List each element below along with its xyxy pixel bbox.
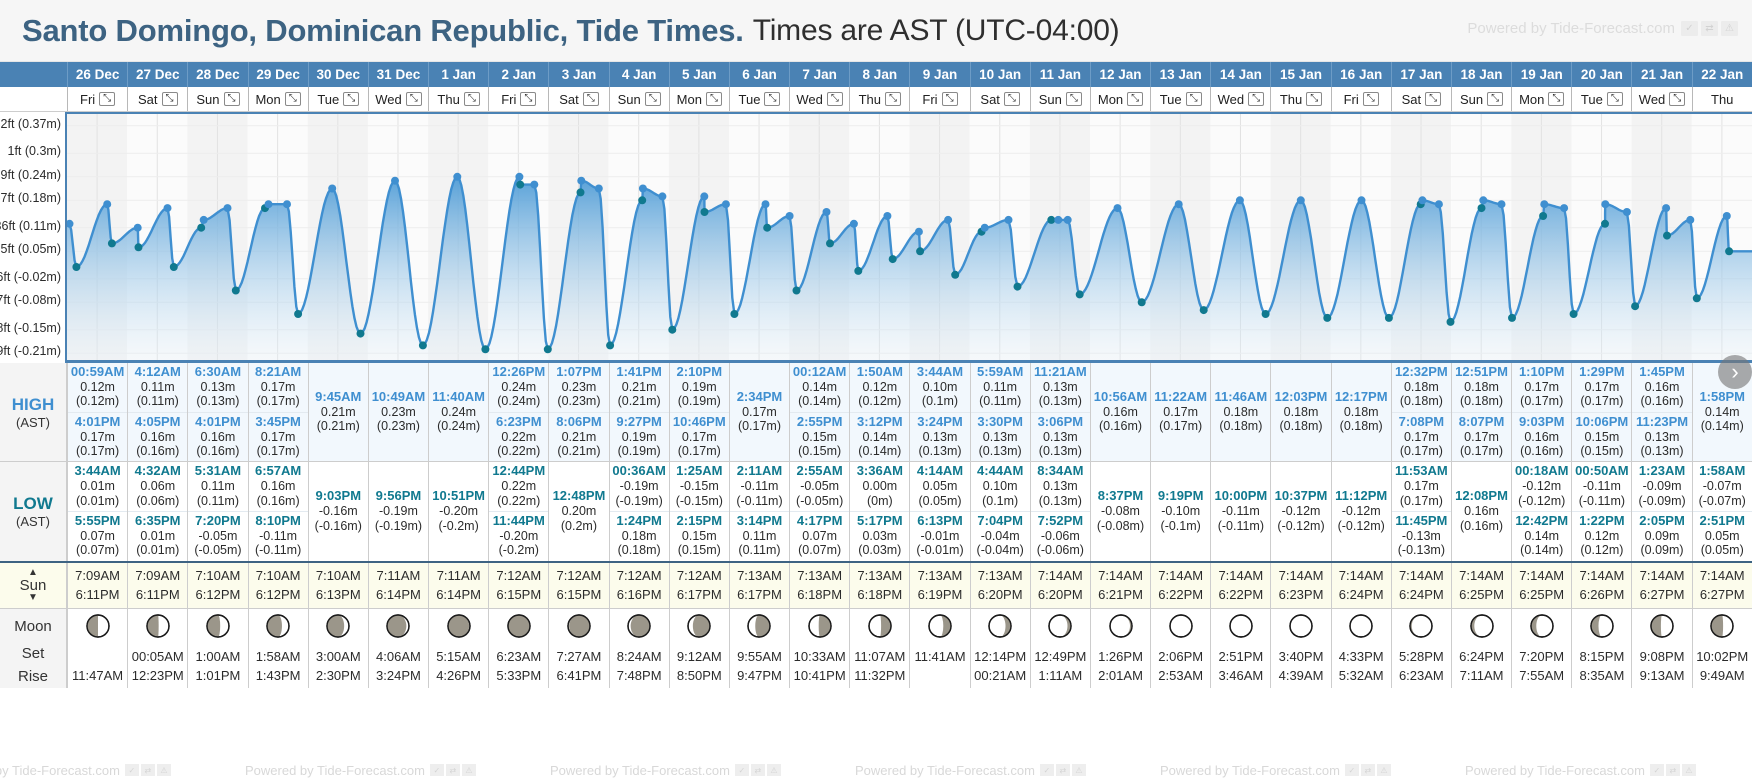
low-tide-point[interactable] xyxy=(516,181,524,189)
day-header-cell[interactable]: Tue⤡ xyxy=(1571,87,1631,111)
expand-day-icon[interactable]: ⤡ xyxy=(706,92,722,106)
low-tide-entry[interactable]: 1:24PM0.18m(0.18m) xyxy=(610,512,669,561)
moon-rise-time: 1:11AM xyxy=(1038,666,1082,685)
expand-day-icon[interactable]: ⤡ xyxy=(1004,92,1020,106)
day-header-cell[interactable]: Sun⤡ xyxy=(609,87,669,111)
low-tide-point[interactable] xyxy=(1076,290,1084,298)
high-tide-point[interactable] xyxy=(515,173,523,181)
expand-day-icon[interactable]: ⤡ xyxy=(942,92,958,106)
high-tide-point[interactable] xyxy=(265,200,273,208)
next-page-arrow-icon[interactable]: › xyxy=(1718,355,1752,389)
date-header-cell[interactable]: 30 Dec xyxy=(308,62,368,87)
high-tide-point[interactable] xyxy=(700,192,708,200)
low-tide-point[interactable] xyxy=(170,263,178,271)
high-tide-point[interactable] xyxy=(134,224,142,232)
high-tide-entry[interactable]: 12:17PM0.18m(0.18m) xyxy=(1332,388,1391,437)
tide-height: 0.11m xyxy=(201,479,235,493)
high-tide-entry[interactable]: 4:05PM0.16m(0.16m) xyxy=(128,413,187,462)
date-header-cell[interactable]: 28 Dec xyxy=(187,62,247,87)
low-tide-point[interactable] xyxy=(1693,294,1701,302)
high-tide-entry[interactable]: 4:01PM0.16m(0.16m) xyxy=(188,413,247,462)
low-tide-point[interactable] xyxy=(72,263,80,271)
sunrise-time: 7:14AM xyxy=(1700,567,1745,586)
day-header-cell[interactable]: Tue⤡ xyxy=(1150,87,1210,111)
high-tide-entry[interactable]: 10:56AM0.16m(0.16m) xyxy=(1091,388,1150,437)
low-tide-point[interactable] xyxy=(1601,220,1609,228)
day-header-cell[interactable]: Sun⤡ xyxy=(1030,87,1090,111)
high-tide-point[interactable] xyxy=(1686,216,1694,224)
low-tide-entry[interactable]: 2:05PM0.09m(0.09m) xyxy=(1632,512,1691,561)
date-header-cell[interactable]: 16 Jan xyxy=(1331,62,1391,87)
date-header-cell[interactable]: 26 Dec xyxy=(67,62,127,87)
low-tide-entry[interactable]: 10:00PM-0.11m(-0.11m) xyxy=(1211,487,1270,536)
low-tide-point[interactable] xyxy=(1478,204,1486,212)
low-tide-point[interactable] xyxy=(1014,283,1022,291)
low-tide-entry[interactable]: 11:45PM-0.13m(-0.13m) xyxy=(1392,512,1451,561)
low-tide-entry[interactable]: 2:51PM0.05m(0.05m) xyxy=(1693,512,1752,561)
expand-day-icon[interactable]: ⤡ xyxy=(583,92,599,106)
low-tide-point[interactable] xyxy=(357,330,365,338)
low-tide-entry[interactable]: 7:20PM-0.05m(-0.05m) xyxy=(188,512,247,561)
low-tide-point[interactable] xyxy=(1539,212,1547,220)
high-tide-point[interactable] xyxy=(1297,196,1305,204)
low-tide-point[interactable] xyxy=(135,243,143,251)
expand-day-icon[interactable]: ⤡ xyxy=(99,92,115,106)
sunrise-time: 7:14AM xyxy=(1158,567,1203,586)
expand-day-icon[interactable]: ⤡ xyxy=(1363,92,1379,106)
date-header-cell[interactable]: 19 Jan xyxy=(1511,62,1571,87)
high-tide-entry[interactable]: 10:46PM0.17m(0.17m) xyxy=(670,413,729,462)
high-tide-entry[interactable]: 11:21AM0.13m(0.13m) xyxy=(1031,363,1090,413)
tide-height: 0.00m xyxy=(862,479,897,493)
expand-day-icon[interactable]: ⤡ xyxy=(764,92,780,106)
low-tide-point[interactable] xyxy=(544,345,552,353)
low-tide-entry[interactable]: 5:31AM0.11m(0.11m) xyxy=(188,462,247,512)
day-header-cell[interactable]: Mon⤡ xyxy=(248,87,308,111)
high-tide-entry[interactable]: 1:45PM0.16m(0.16m) xyxy=(1632,363,1691,413)
low-tide-entry[interactable]: 8:37PM-0.08m(-0.08m) xyxy=(1091,487,1150,536)
low-tide-point[interactable] xyxy=(1570,310,1578,318)
date-header-cell[interactable]: 20 Jan xyxy=(1571,62,1631,87)
date-header-cell[interactable]: 22 Jan xyxy=(1692,62,1752,87)
low-tide-point[interactable] xyxy=(826,239,834,247)
low-tide-entry[interactable]: 12:08PM0.16m(0.16m) xyxy=(1452,487,1511,536)
high-tide-entry[interactable]: 5:59AM0.11m(0.11m) xyxy=(971,363,1030,413)
date-header-cell[interactable]: 14 Jan xyxy=(1210,62,1270,87)
day-header-cell[interactable]: Tue⤡ xyxy=(729,87,789,111)
date-header-cell[interactable]: 11 Jan xyxy=(1030,62,1090,87)
high-tide-entry[interactable]: 12:32PM0.18m(0.18m) xyxy=(1392,363,1451,413)
expand-day-icon[interactable]: ⤡ xyxy=(1425,92,1441,106)
high-tide-entry[interactable]: 2:34PM0.17m(0.17m) xyxy=(730,388,789,437)
date-header-cell[interactable]: 3 Jan xyxy=(548,62,608,87)
high-tide-entry[interactable]: 9:45AM0.21m(0.21m) xyxy=(309,388,368,437)
low-tide-entry[interactable]: 7:52PM-0.06m(-0.06m) xyxy=(1031,512,1090,561)
high-tide-point[interactable] xyxy=(850,220,858,228)
low-tide-entry[interactable]: 12:42PM0.14m(0.14m) xyxy=(1512,512,1571,561)
high-tide-entry[interactable]: 1:50AM0.12m(0.12m) xyxy=(850,363,909,413)
high-tide-entry[interactable]: 3:44AM0.10m(0.1m) xyxy=(910,363,969,413)
high-tide-entry[interactable]: 11:40AM0.24m(0.24m) xyxy=(429,388,488,437)
high-tide-point[interactable] xyxy=(1418,196,1426,204)
low-tide-entry[interactable]: 6:57AM0.16m(0.16m) xyxy=(249,462,308,512)
low-tide-entry[interactable]: 9:56PM-0.19m(-0.19m) xyxy=(369,487,428,536)
low-tide-point[interactable] xyxy=(1262,310,1270,318)
expand-day-icon[interactable]: ⤡ xyxy=(343,92,359,106)
low-tide-point[interactable] xyxy=(1138,298,1146,306)
high-tide-point[interactable] xyxy=(915,228,923,236)
low-tide-entry[interactable]: 11:53AM0.17m(0.17m) xyxy=(1392,462,1451,512)
low-tide-point[interactable] xyxy=(1200,306,1208,314)
high-tide-point[interactable] xyxy=(1540,200,1548,208)
day-header-cell[interactable]: Fri⤡ xyxy=(1331,87,1391,111)
expand-day-icon[interactable]: ⤡ xyxy=(1066,92,1082,106)
high-tide-point[interactable] xyxy=(639,185,647,193)
low-tide-entry[interactable]: 7:04PM-0.04m(-0.04m) xyxy=(971,512,1030,561)
tide-time: 6:23PM xyxy=(496,415,542,430)
high-tide-entry[interactable]: 00:59AM0.12m(0.12m) xyxy=(68,363,127,413)
tide-time: 2:11AM xyxy=(737,464,783,479)
date-header-cell[interactable]: 15 Jan xyxy=(1270,62,1330,87)
high-tide-entry[interactable]: 12:26PM0.24m(0.24m) xyxy=(489,363,548,413)
high-tide-entry[interactable]: 11:22AM0.17m(0.17m) xyxy=(1151,388,1210,437)
low-tide-point[interactable] xyxy=(854,267,862,275)
low-tide-point[interactable] xyxy=(577,188,585,196)
high-tide-entry[interactable]: 1:07PM0.23m(0.23m) xyxy=(549,363,608,413)
expand-day-icon[interactable]: ⤡ xyxy=(1127,92,1143,106)
high-tide-point[interactable] xyxy=(283,200,291,208)
date-header-cell[interactable]: 27 Dec xyxy=(127,62,187,87)
expand-day-icon[interactable]: ⤡ xyxy=(285,92,301,106)
high-tide-entry[interactable]: 3:24PM0.13m(0.13m) xyxy=(910,413,969,462)
day-header-cell[interactable]: Mon⤡ xyxy=(1511,87,1571,111)
expand-day-icon[interactable]: ⤡ xyxy=(645,92,661,106)
date-header-cell[interactable]: 18 Jan xyxy=(1451,62,1511,87)
tide-height-alt: (0.12m) xyxy=(76,394,119,408)
low-tide-entry[interactable]: 1:25AM-0.15m(-0.15m) xyxy=(670,462,729,512)
high-tide-point[interactable] xyxy=(391,177,399,185)
low-tide-point[interactable] xyxy=(1323,314,1331,322)
low-tide-entry[interactable]: 1:23AM-0.09m(-0.09m) xyxy=(1632,462,1691,512)
high-tide-entry[interactable]: 1:10PM0.17m(0.17m) xyxy=(1512,363,1571,413)
day-header-cell[interactable]: Thu⤡ xyxy=(428,87,488,111)
high-tide-entry[interactable]: 9:03PM0.16m(0.16m) xyxy=(1512,413,1571,462)
high-tide-point[interactable] xyxy=(1723,212,1731,220)
day-header-cell[interactable]: Fri⤡ xyxy=(488,87,548,111)
low-tide-point[interactable] xyxy=(232,287,240,295)
high-tide-entry[interactable]: 1:58PM0.14m(0.14m) xyxy=(1693,388,1752,437)
low-tide-point[interactable] xyxy=(1047,216,1055,224)
day-header-cell[interactable]: Fri⤡ xyxy=(67,87,127,111)
day-name-label: Thu xyxy=(859,92,881,107)
low-tide-entry[interactable]: 2:15PM0.15m(0.15m) xyxy=(670,512,729,561)
high-tide-entry[interactable]: 10:49AM0.23m(0.23m) xyxy=(369,388,428,437)
date-header-cell[interactable]: 5 Jan xyxy=(669,62,729,87)
day-header-cell[interactable]: Sun⤡ xyxy=(1451,87,1511,111)
day-header-cell[interactable]: Sat⤡ xyxy=(127,87,187,111)
low-tide-point[interactable] xyxy=(108,239,116,247)
day-header-cell[interactable]: Mon⤡ xyxy=(1090,87,1150,111)
tide-height: 0.05m xyxy=(1705,529,1740,543)
low-tide-entry[interactable]: 3:14PM0.11m(0.11m) xyxy=(730,512,789,561)
day-name-label: Wed xyxy=(375,92,402,107)
low-tide-entry[interactable]: 3:44AM0.01m(0.01m) xyxy=(68,462,127,512)
tide-height-alt: (0.13m) xyxy=(1039,494,1082,508)
low-tide-entry[interactable]: 9:19PM-0.10m(-0.1m) xyxy=(1151,487,1210,536)
moon-setrise-column: 7:27AM6:41PM xyxy=(548,643,608,688)
high-tide-point[interactable] xyxy=(1064,216,1072,224)
day-header-cell[interactable]: Sat⤡ xyxy=(1391,87,1451,111)
high-tide-point[interactable] xyxy=(1662,204,1670,212)
date-header-cell[interactable]: 2 Jan xyxy=(488,62,548,87)
low-tide-entry[interactable]: 3:36AM0.00m(0m) xyxy=(850,462,909,512)
low-tide-point[interactable] xyxy=(668,326,676,334)
expand-day-icon[interactable]: ⤡ xyxy=(1306,92,1322,106)
low-tide-point[interactable] xyxy=(1631,302,1639,310)
high-tide-entry[interactable]: 3:30PM0.13m(0.13m) xyxy=(971,413,1030,462)
moon-setrise-column: 2:06PM2:53AM xyxy=(1150,643,1210,688)
low-tide-entry[interactable]: 9:03PM-0.16m(-0.16m) xyxy=(309,487,368,536)
high-tide-entry[interactable]: 3:12PM0.14m(0.14m) xyxy=(850,413,909,462)
expand-day-icon[interactable]: ⤡ xyxy=(1186,92,1202,106)
low-tide-entry[interactable]: 10:37PM-0.12m(-0.12m) xyxy=(1271,487,1330,536)
refresh-badge-icon: ⇄ xyxy=(141,764,155,776)
high-tide-point[interactable] xyxy=(1175,200,1183,208)
date-header-cell[interactable]: 9 Jan xyxy=(909,62,969,87)
low-tide-point[interactable] xyxy=(701,208,709,216)
low-tide-point[interactable] xyxy=(481,345,489,353)
low-tide-entry[interactable]: 12:48PM0.20m(0.2m) xyxy=(549,487,608,536)
high-tide-entry[interactable]: 8:07PM0.17m(0.17m) xyxy=(1452,413,1511,462)
high-tide-entry[interactable]: 1:41PM0.21m(0.21m) xyxy=(610,363,669,413)
high-tide-point[interactable] xyxy=(577,177,585,185)
high-tide-entry[interactable]: 6:30AM0.13m(0.13m) xyxy=(188,363,247,413)
moon-set-time: 5:15AM xyxy=(436,647,481,666)
powered-by-text: Powered by Tide-Forecast.com xyxy=(1467,20,1675,37)
expand-day-icon[interactable]: ⤡ xyxy=(406,92,422,106)
high-tide-entry[interactable]: 8:06PM0.21m(0.21m) xyxy=(549,413,608,462)
low-tide-entry[interactable]: 1:58AM-0.07m(-0.07m) xyxy=(1693,462,1752,512)
low-tide-point[interactable] xyxy=(730,310,738,318)
low-tide-entry[interactable]: 4:32AM0.06m(0.06m) xyxy=(128,462,187,512)
expand-day-icon[interactable]: ⤡ xyxy=(1487,92,1503,106)
high-tide-entry[interactable]: 6:23PM0.22m(0.22m) xyxy=(489,413,548,462)
sun-column: 7:09AM6:11PM xyxy=(67,563,127,609)
expand-day-icon[interactable]: ⤡ xyxy=(1607,92,1623,106)
date-header-cell[interactable]: 31 Dec xyxy=(368,62,428,87)
low-tide-point[interactable] xyxy=(763,224,771,232)
high-tide-point[interactable] xyxy=(1236,196,1244,204)
day-header-cell[interactable]: Fri⤡ xyxy=(909,87,969,111)
low-tide-point[interactable] xyxy=(638,196,646,204)
high-tide-point[interactable] xyxy=(1435,200,1443,208)
low-tide-entry[interactable]: 5:17PM0.03m(0.03m) xyxy=(850,512,909,561)
high-tide-entry[interactable]: 1:29PM0.17m(0.17m) xyxy=(1572,363,1631,413)
date-header-cell[interactable]: 17 Jan xyxy=(1391,62,1451,87)
low-tide-entry[interactable]: 6:13PM-0.01m(-0.01m) xyxy=(910,512,969,561)
high-tide-entry[interactable]: 2:55PM0.15m(0.15m) xyxy=(790,413,849,462)
low-tide-point[interactable] xyxy=(419,341,427,349)
expand-day-icon[interactable]: ⤡ xyxy=(1669,92,1685,106)
high-tide-point[interactable] xyxy=(164,204,172,212)
high-tide-point[interactable] xyxy=(530,181,538,189)
low-tide-entry[interactable]: 00:18AM-0.12m(-0.12m) xyxy=(1512,462,1571,512)
high-tide-point[interactable] xyxy=(224,204,232,212)
chart-plot-area[interactable] xyxy=(67,112,1752,363)
high-tide-entry[interactable]: 8:21AM0.17m(0.17m) xyxy=(249,363,308,413)
high-tide-entry[interactable]: 3:06PM0.13m(0.13m) xyxy=(1031,413,1090,462)
date-header-cell[interactable]: 12 Jan xyxy=(1090,62,1150,87)
high-tide-point[interactable] xyxy=(200,216,208,224)
tide-height: 0.18m xyxy=(1404,380,1439,394)
low-tide-entry[interactable]: 4:17PM0.07m(0.07m) xyxy=(790,512,849,561)
date-header-cell[interactable]: 21 Jan xyxy=(1631,62,1691,87)
tide-height: -0.11m xyxy=(1222,504,1260,518)
high-tide-entry[interactable]: 4:01PM0.17m(0.17m) xyxy=(68,413,127,462)
high-tide-point[interactable] xyxy=(658,192,666,200)
date-header-cell[interactable]: 29 Dec xyxy=(248,62,308,87)
low-tide-entry[interactable]: 10:51PM-0.20m(-0.2m) xyxy=(429,487,488,536)
high-tide-point[interactable] xyxy=(883,212,891,220)
expand-day-icon[interactable]: ⤡ xyxy=(520,92,536,106)
low-tide-entry[interactable]: 2:11AM-0.11m(-0.11m) xyxy=(730,462,789,512)
high-tide-entry[interactable]: 10:06PM0.15m(0.15m) xyxy=(1572,413,1631,462)
moon-rise-time: 6:23AM xyxy=(1399,666,1444,685)
day-header-cell[interactable]: Sat⤡ xyxy=(970,87,1030,111)
high-tide-point[interactable] xyxy=(823,208,831,216)
tide-height-alt: (0.11m) xyxy=(197,494,239,508)
expand-day-icon[interactable]: ⤡ xyxy=(1548,92,1564,106)
high-tide-point[interactable] xyxy=(328,185,336,193)
moon-set-time: 7:20PM xyxy=(1519,647,1564,666)
low-tide-entry[interactable]: 8:10PM-0.11m(-0.11m) xyxy=(249,512,308,561)
low-tide-entry[interactable]: 4:44AM0.10m(0.1m) xyxy=(971,462,1030,512)
high-tide-point[interactable] xyxy=(762,200,770,208)
day-header-cell[interactable]: Wed⤡ xyxy=(1210,87,1270,111)
high-tide-point[interactable] xyxy=(1479,196,1487,204)
high-tide-point[interactable] xyxy=(1601,200,1609,208)
high-tide-column: 11:46AM0.18m(0.18m) xyxy=(1210,363,1270,461)
high-tide-point[interactable] xyxy=(944,216,952,224)
day-header-cell[interactable]: Wed⤡ xyxy=(368,87,428,111)
low-tide-entry[interactable]: 1:22PM0.12m(0.12m) xyxy=(1572,512,1631,561)
day-header-cell[interactable]: Thu⤡ xyxy=(1270,87,1330,111)
high-tide-entry[interactable]: 3:45PM0.17m(0.17m) xyxy=(249,413,308,462)
high-tide-point[interactable] xyxy=(1560,204,1568,212)
low-tide-point[interactable] xyxy=(1725,247,1733,255)
high-tide-point[interactable] xyxy=(786,212,794,220)
moon-setrise-section: Set Rise 11:47AM00:05AM12:23PM1:00AM1:01… xyxy=(0,643,1752,688)
high-tide-entry[interactable]: 9:27PM0.19m(0.19m) xyxy=(610,413,669,462)
low-tide-point[interactable] xyxy=(951,271,959,279)
high-tide-point[interactable] xyxy=(103,200,111,208)
day-header-cell[interactable]: Thu xyxy=(1692,87,1752,111)
expand-day-icon[interactable]: ⤡ xyxy=(1248,92,1264,106)
date-header-cell[interactable]: 1 Jan xyxy=(428,62,488,87)
high-tide-entry[interactable]: 7:08PM0.17m(0.17m) xyxy=(1392,413,1451,462)
high-tide-entry[interactable]: 00:12AM0.14m(0.14m) xyxy=(790,363,849,413)
moon-rise-time: 2:53AM xyxy=(1158,666,1203,685)
day-header-cell[interactable]: Mon⤡ xyxy=(669,87,729,111)
low-tide-point[interactable] xyxy=(793,287,801,295)
low-tide-entry[interactable]: 11:12PM-0.12m(-0.12m) xyxy=(1332,487,1391,536)
high-tide-entry[interactable]: 4:12AM0.11m(0.11m) xyxy=(128,363,187,413)
low-tide-entry[interactable]: 11:44PM-0.20m(-0.2m) xyxy=(489,512,548,561)
high-tide-entry[interactable]: 12:51PM0.18m(0.18m) xyxy=(1452,363,1511,413)
low-tide-entry[interactable]: 6:35PM0.01m(0.01m) xyxy=(128,512,187,561)
high-tide-point[interactable] xyxy=(1358,196,1366,204)
date-header-cell[interactable]: 13 Jan xyxy=(1150,62,1210,87)
day-header-cell[interactable]: Sat⤡ xyxy=(548,87,608,111)
low-tide-point[interactable] xyxy=(606,341,614,349)
tide-height-alt: (-0.2m) xyxy=(499,543,539,557)
date-header-cell[interactable]: 4 Jan xyxy=(609,62,669,87)
day-header-cell[interactable]: Sun⤡ xyxy=(187,87,247,111)
moon-rise-time: 9:47PM xyxy=(737,666,782,685)
low-tide-point[interactable] xyxy=(1447,318,1455,326)
low-tide-point[interactable] xyxy=(294,310,302,318)
high-tide-point[interactable] xyxy=(1005,216,1013,224)
day-header-cell[interactable]: Wed⤡ xyxy=(1631,87,1691,111)
tide-time: 00:59AM xyxy=(71,365,124,380)
expand-day-icon[interactable]: ⤡ xyxy=(162,92,178,106)
tide-height: 0.17m xyxy=(742,405,777,419)
high-tide-entry[interactable]: 11:46AM0.18m(0.18m) xyxy=(1211,388,1270,437)
low-tide-entry[interactable]: 8:34AM0.13m(0.13m) xyxy=(1031,462,1090,512)
expand-day-icon[interactable]: ⤡ xyxy=(224,92,240,106)
high-tide-entry[interactable]: 2:10PM0.19m(0.19m) xyxy=(670,363,729,413)
day-header-cell[interactable]: Thu⤡ xyxy=(849,87,909,111)
low-tide-point[interactable] xyxy=(889,255,897,263)
tide-height: 0.16m xyxy=(1645,380,1680,394)
expand-day-icon[interactable]: ⤡ xyxy=(464,92,480,106)
expand-day-icon[interactable]: ⤡ xyxy=(885,92,901,106)
low-tide-point[interactable] xyxy=(1508,314,1516,322)
high-tide-point[interactable] xyxy=(1498,200,1506,208)
high-tide-point[interactable] xyxy=(722,200,730,208)
low-tide-point[interactable] xyxy=(1385,314,1393,322)
low-tide-entry[interactable]: 2:55AM-0.05m(-0.05m) xyxy=(790,462,849,512)
low-tide-entry[interactable]: 00:50AM-0.11m(-0.11m) xyxy=(1572,462,1631,512)
high-tide-point[interactable] xyxy=(453,173,461,181)
low-tide-point[interactable] xyxy=(916,247,924,255)
date-header-cell[interactable]: 6 Jan xyxy=(729,62,789,87)
high-tide-point[interactable] xyxy=(981,224,989,232)
day-header-cell[interactable]: Tue⤡ xyxy=(308,87,368,111)
tide-height-alt: (0.21m) xyxy=(618,394,661,408)
high-tide-point[interactable] xyxy=(1114,204,1122,212)
low-tide-entry[interactable]: 5:55PM0.07m(0.07m) xyxy=(68,512,127,561)
expand-day-icon[interactable]: ⤡ xyxy=(827,92,843,106)
low-tide-entry[interactable]: 12:44PM0.22m(0.22m) xyxy=(489,462,548,512)
low-tide-point[interactable] xyxy=(1663,232,1671,240)
date-header-cell[interactable]: 8 Jan xyxy=(849,62,909,87)
low-tide-entry[interactable]: 00:36AM-0.19m(-0.19m) xyxy=(610,462,669,512)
date-header-cell[interactable]: 7 Jan xyxy=(789,62,849,87)
date-header-cell[interactable]: 10 Jan xyxy=(970,62,1030,87)
high-tide-entry[interactable]: 12:03PM0.18m(0.18m) xyxy=(1271,388,1330,437)
low-tide-entry[interactable]: 4:14AM0.05m(0.05m) xyxy=(910,462,969,512)
high-tide-point[interactable] xyxy=(1623,208,1631,216)
day-header-cell[interactable]: Wed⤡ xyxy=(789,87,849,111)
low-tide-point[interactable] xyxy=(197,224,205,232)
high-tide-point[interactable] xyxy=(595,185,603,193)
sunrise-time: 7:13AM xyxy=(857,567,902,586)
tide-time: 3:44AM xyxy=(74,464,120,479)
moon-setrise-column: 9:55AM9:47PM xyxy=(729,643,789,688)
high-tide-point[interactable] xyxy=(1054,216,1062,224)
high-tide-entry[interactable]: 11:23PM0.13m(0.13m) xyxy=(1632,413,1691,462)
